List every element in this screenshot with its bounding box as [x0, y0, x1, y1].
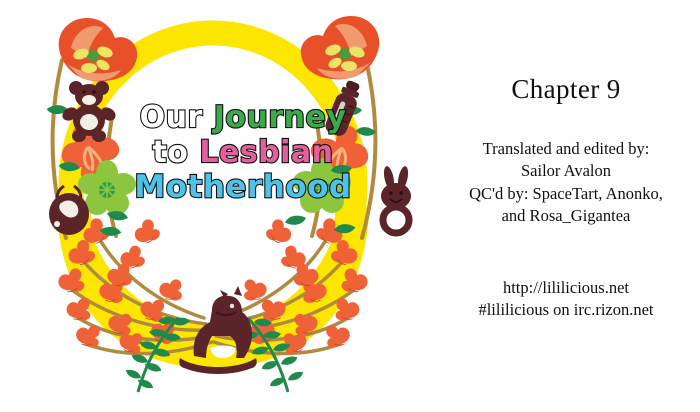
credit-line-qc-names: and Rosa_Gigantea — [432, 205, 700, 227]
irc-channel: #lililicious on irc.rizon.net — [432, 299, 700, 321]
credit-line-translated-by: Translated and edited by: — [432, 138, 700, 160]
credit-line-translator-name: Sailor Avalon — [432, 160, 700, 182]
wreath-illustration — [0, 0, 440, 412]
series-logo: Our Journey to Lesbian Motherhood — [0, 0, 440, 412]
group-links: http://lililicious.net #lililicious on i… — [432, 277, 700, 322]
chapter-heading: Chapter 9 — [432, 74, 700, 105]
website-url[interactable]: http://lililicious.net — [432, 277, 700, 299]
credit-page: Our Journey to Lesbian Motherhood Chapte… — [0, 0, 700, 412]
credits-panel: Chapter 9 Translated and edited by: Sail… — [432, 0, 700, 412]
bunny-ring-rattle-right — [381, 165, 411, 233]
scanlation-credits: Translated and edited by: Sailor Avalon … — [432, 138, 700, 227]
credit-line-qc-by: QC'd by: SpaceTart, Anonko, — [432, 183, 700, 205]
poppy-flower-top-left — [59, 18, 138, 81]
